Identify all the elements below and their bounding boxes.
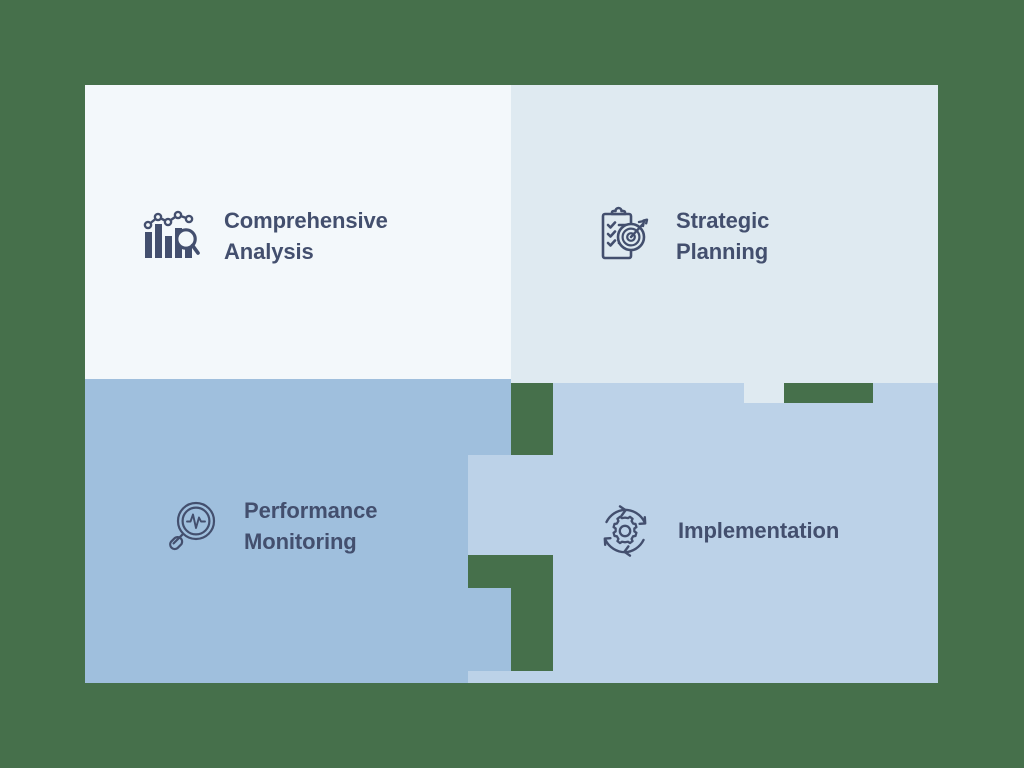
feature-implementation-label: Implementation xyxy=(678,515,839,546)
magnifier-pulse-icon xyxy=(160,495,222,557)
slide-canvas: Comprehensive Analysis xyxy=(0,0,1024,768)
feature-monitoring[interactable]: Performance Monitoring xyxy=(160,495,490,557)
clipboard-target-icon xyxy=(592,205,654,267)
puzzle-board xyxy=(85,85,938,683)
gear-cycle-arrows-icon xyxy=(594,500,656,562)
feature-analysis[interactable]: Comprehensive Analysis xyxy=(140,205,470,267)
feature-analysis-label: Comprehensive Analysis xyxy=(224,205,388,267)
feature-planning-label: Strategic Planning xyxy=(676,205,769,267)
feature-implementation[interactable]: Implementation xyxy=(594,500,924,562)
feature-monitoring-label: Performance Monitoring xyxy=(244,495,377,557)
feature-planning[interactable]: Strategic Planning xyxy=(592,205,892,267)
bar-chart-magnifier-icon xyxy=(140,205,202,267)
